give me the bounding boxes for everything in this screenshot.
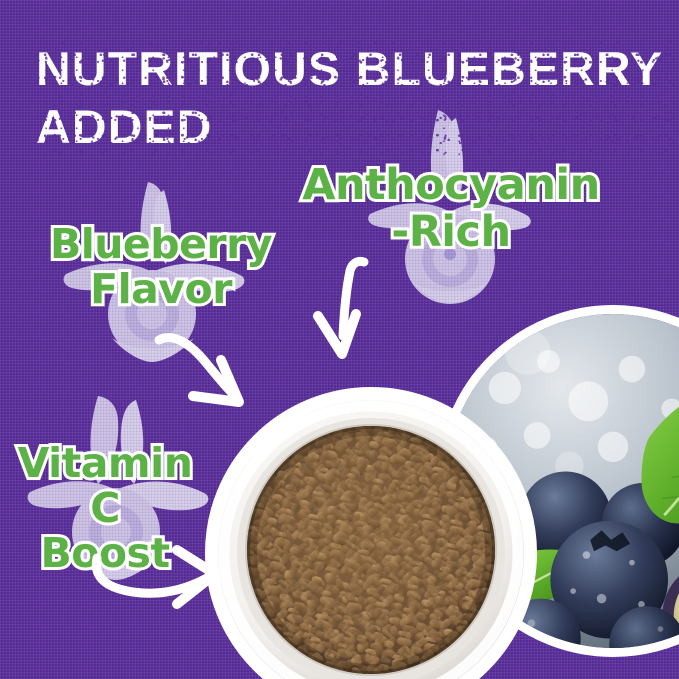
curved-arrow-icon-anthocyanin	[300, 252, 410, 364]
callout-anthocyanin-line-2: -Rich	[286, 209, 616, 256]
page-title: NUTRITIOUS BLUEBERRY ADDED	[36, 40, 679, 156]
callout-anthocyanin-line-1: Anthocyanin	[286, 162, 616, 209]
promo-banner: NUTRITIOUS BLUEBERRY ADDED Anthocyanin -…	[0, 0, 679, 679]
headline-line-2: ADDED	[36, 98, 679, 156]
curved-arrow-icon-blueberry	[135, 322, 263, 422]
headline-line-1: NUTRITIOUS BLUEBERRY	[36, 40, 679, 98]
callout-vitaminc-line-1: Vitamin C	[0, 441, 210, 531]
callout-blueberry-flavor: Blueberry Flavor	[30, 222, 292, 312]
kibble-bowl-photo	[205, 387, 537, 679]
callout-blueberry-line-2: Flavor	[30, 267, 292, 312]
callout-anthocyanin-rich: Anthocyanin -Rich	[286, 162, 616, 256]
kibble-bowl-art	[218, 400, 524, 679]
callout-blueberry-line-1: Blueberry	[30, 222, 292, 267]
curved-arrow-icon-vitaminc	[85, 534, 227, 624]
